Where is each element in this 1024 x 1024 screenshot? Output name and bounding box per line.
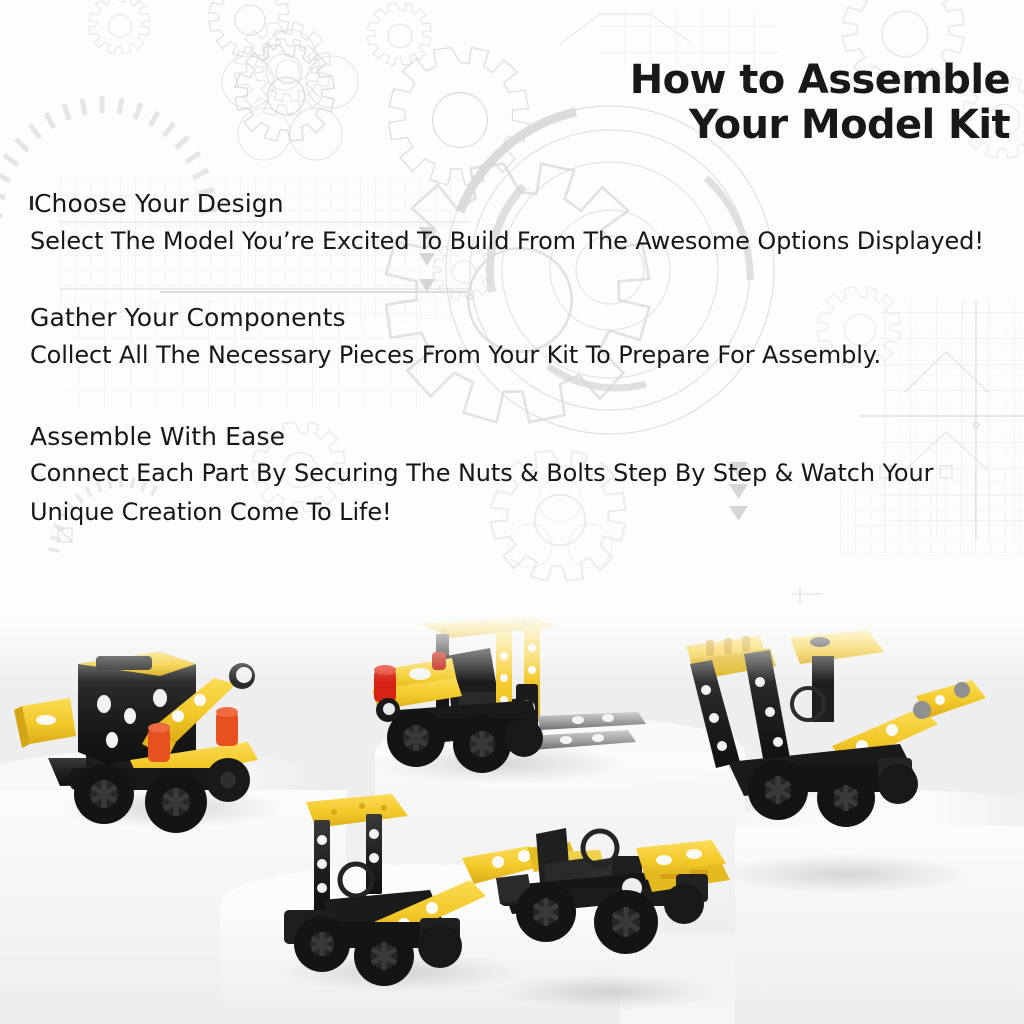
gear-outline-topmid xyxy=(235,23,331,116)
instruction-step-1: Choose Your Design Select The Model You’… xyxy=(30,186,1022,260)
gear-outline-topleft-b xyxy=(209,0,289,56)
gear-outline-midleft xyxy=(389,48,529,186)
step-2-body: Collect All The Necessary Pieces From Yo… xyxy=(30,336,1020,375)
infographic-root: How to Assemble Your Model Kit Choose Yo… xyxy=(0,0,1024,1024)
page-title: How to Assemble Your Model Kit xyxy=(540,58,1010,148)
product-photo-area xyxy=(0,612,1024,1024)
flower-gear-topleft xyxy=(222,30,358,160)
step-3-title: Assemble With Ease xyxy=(30,419,1022,455)
step-1-lead-mark xyxy=(30,196,33,210)
gear-outline-topleft-a xyxy=(89,0,150,54)
step-1-title: Choose Your Design xyxy=(30,186,1022,222)
page-title-line-2: Your Model Kit xyxy=(540,103,1010,148)
instruction-steps: Choose Your Design Select The Model You’… xyxy=(30,186,1022,554)
gear-outline-topright-cluster xyxy=(255,39,319,101)
instruction-step-3: Assemble With Ease Connect Each Part By … xyxy=(30,419,1022,532)
gear-cluster-topright xyxy=(235,45,334,141)
step-3-body: Connect Each Part By Securing The Nuts &… xyxy=(30,454,1020,532)
step-2-title: Gather Your Components xyxy=(30,300,1022,336)
step-1-title-text: Choose Your Design xyxy=(34,189,284,218)
page-title-line-1: How to Assemble xyxy=(540,58,1010,103)
gear-outline-topleft-c xyxy=(367,3,431,65)
podium-right xyxy=(735,790,1024,1024)
step-1-body: Select The Model You’re Excited To Build… xyxy=(30,222,1020,261)
photo-top-fade xyxy=(0,612,1024,682)
instruction-step-2: Gather Your Components Collect All The N… xyxy=(30,300,1022,374)
